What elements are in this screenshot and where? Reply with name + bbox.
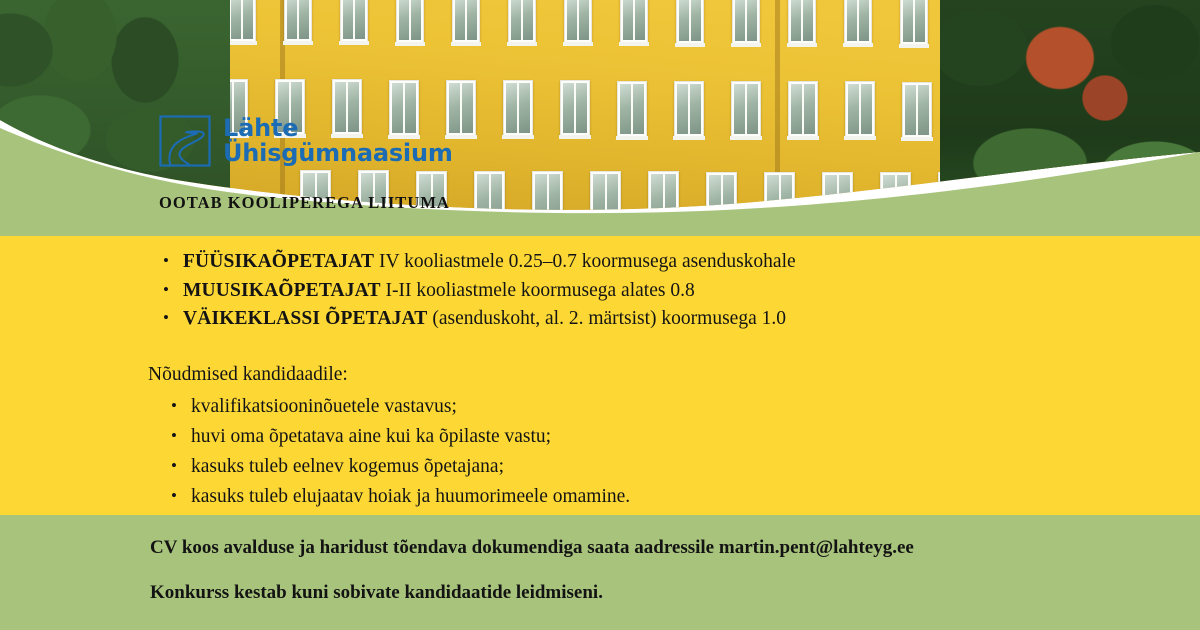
position-detail: IV kooliastmele 0.25–0.7 koormusega asen…	[374, 251, 796, 272]
requirement-item: kasuks tuleb elujaatav hoiak ja huumorim…	[168, 482, 630, 512]
position-detail: (asenduskoht, al. 2. märtsist) koormuseg…	[427, 308, 786, 329]
position-item: FÜÜSIKAÕPETAJAT IV kooliastmele 0.25–0.7…	[160, 248, 796, 277]
facade-window	[284, 0, 312, 42]
facade-window	[674, 81, 704, 137]
school-logo-wordmark: Lähte Ühisgümnaasium	[223, 116, 453, 166]
facade-window	[340, 0, 368, 42]
position-role: FÜÜSIKAÕPETAJAT	[183, 251, 374, 272]
open-positions-list: FÜÜSIKAÕPETAJAT IV kooliastmele 0.25–0.7…	[160, 248, 796, 334]
facade-window	[900, 0, 928, 45]
header-block: Lähte Ühisgümnaasium OOTAB KOOLIPEREGA L…	[158, 114, 453, 213]
facade-window	[788, 81, 818, 137]
job-advertisement-poster: Lähte Ühisgümnaasium OOTAB KOOLIPEREGA L…	[0, 0, 1200, 630]
facade-window	[845, 81, 875, 137]
logo-line-1: Lähte	[223, 116, 453, 141]
footer-line-application: CV koos avalduse ja haridust tõendava do…	[150, 536, 914, 560]
facade-window	[732, 0, 760, 44]
facade-window	[452, 0, 480, 43]
position-item: MUUSIKAÕPETAJAT I-II kooliastmele koormu…	[160, 277, 796, 306]
facade-window	[731, 81, 761, 137]
facade-window	[503, 80, 533, 136]
position-detail: I-II kooliastmele koormusega alates 0.8	[381, 280, 695, 301]
school-logo: Lähte Ühisgümnaasium	[158, 114, 453, 168]
facade-window	[620, 0, 648, 43]
facade-window	[560, 80, 590, 136]
facade-window	[617, 81, 647, 137]
facade-window	[228, 0, 256, 42]
tagline: OOTAB KOOLIPEREGA LIITUMA	[159, 193, 453, 213]
facade-window	[788, 0, 816, 44]
requirement-item: kvalifikatsiooninõuetele vastavus;	[168, 392, 630, 422]
position-role: MUUSIKAÕPETAJAT	[183, 280, 381, 301]
facade-window	[396, 0, 424, 43]
requirement-item: kasuks tuleb eelnev kogemus õpetajana;	[168, 452, 630, 482]
facade-window	[844, 0, 872, 44]
requirement-item: huvi oma õpetatava aine kui ka õpilaste …	[168, 422, 630, 452]
facade-window	[902, 82, 932, 138]
facade-window	[564, 0, 592, 43]
facade-window	[676, 0, 704, 44]
position-role: VÄIKEKLASSI ÕPETAJAT	[183, 308, 427, 329]
requirements-list: kvalifikatsiooninõuetele vastavus;huvi o…	[168, 392, 630, 512]
requirements-heading: Nõudmised kandidaadile:	[148, 364, 348, 386]
logo-line-2: Ühisgümnaasium	[223, 141, 453, 166]
footer-contact-block: CV koos avalduse ja haridust tõendava do…	[150, 536, 914, 605]
facade-window	[508, 0, 536, 43]
position-item: VÄIKEKLASSI ÕPETAJAT (asenduskoht, al. 2…	[160, 305, 796, 334]
winding-path-square-logo-icon	[158, 114, 212, 168]
footer-line-deadline: Konkurss kestab kuni sobivate kandidaati…	[150, 581, 914, 605]
